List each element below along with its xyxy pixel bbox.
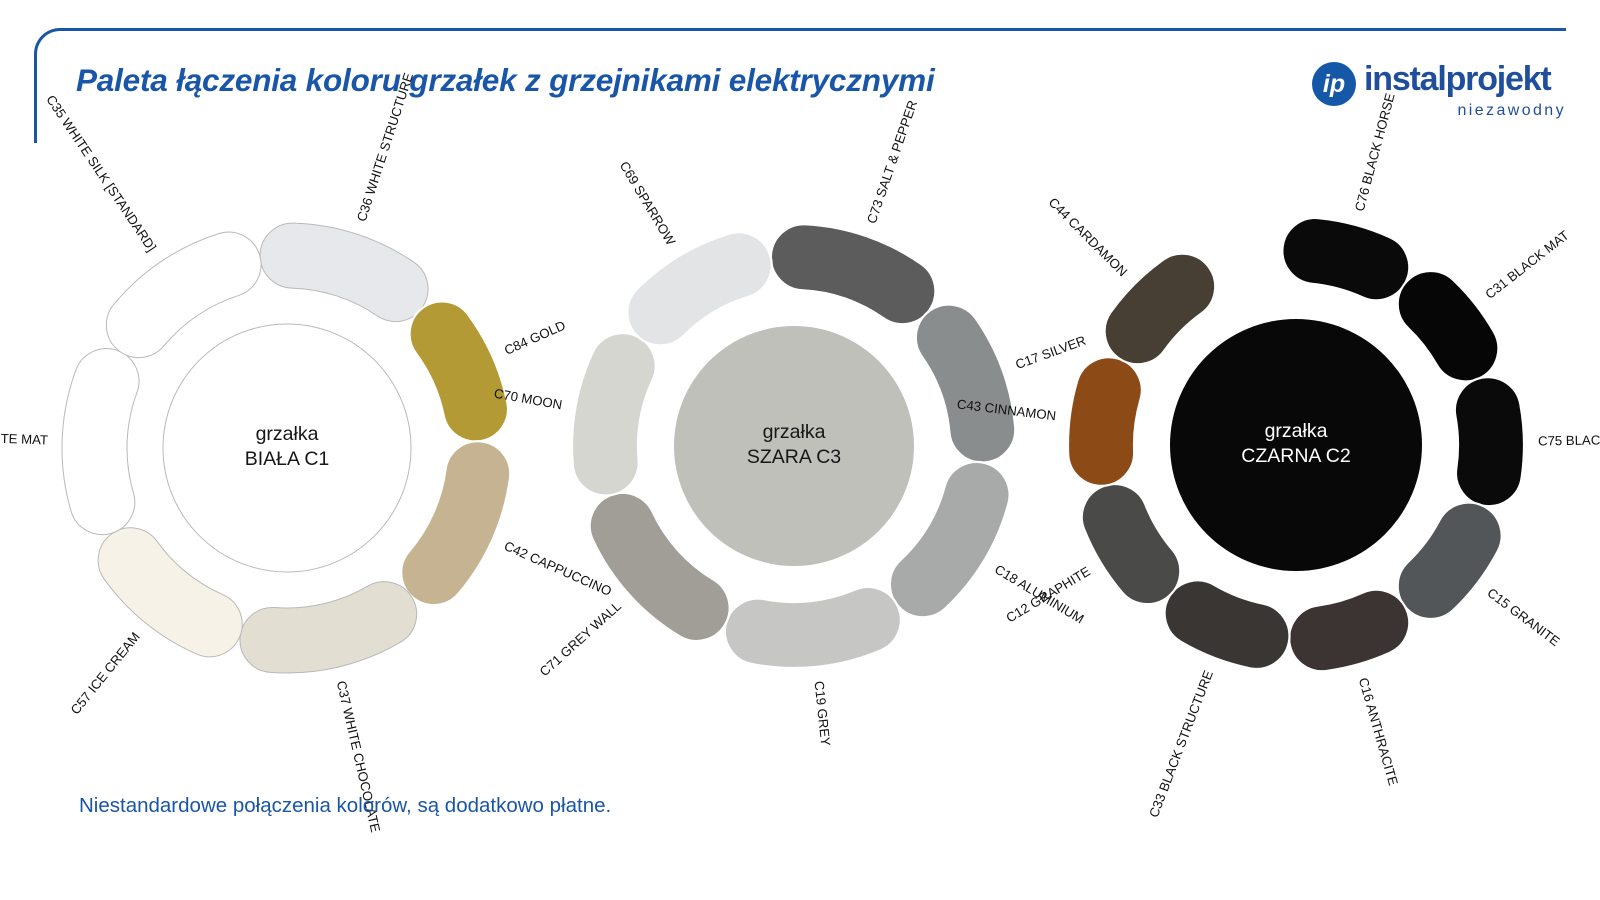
wheel-segment[interactable]	[1282, 218, 1409, 300]
infographic-canvas: Paleta łączenia koloru grzałek z grzejni…	[0, 0, 1600, 900]
wheel-segment[interactable]	[1398, 503, 1502, 619]
wheel-segment-label: C34 WHITE MAT	[0, 429, 48, 448]
wheel-segment[interactable]	[1289, 590, 1409, 672]
wheel-segment[interactable]	[1165, 580, 1290, 669]
wheel-hub-label-line1: grzałka	[928, 419, 1600, 444]
wheel-segment[interactable]	[627, 232, 771, 345]
wheel-segment-label: C75 BLACK SWAN	[1538, 431, 1600, 448]
wheel-segment[interactable]	[240, 582, 417, 673]
wheel-hub-label-line2: CZARNA C2	[928, 444, 1600, 469]
wheel-segment[interactable]	[572, 333, 656, 495]
footer-note: Niestandardowe połączenia kolorów, są do…	[79, 794, 611, 818]
wheel-segment[interactable]	[1082, 484, 1180, 604]
wheel-segment[interactable]	[1398, 271, 1499, 381]
wheel-hub-label: grzałkaCZARNA C2	[928, 419, 1600, 469]
wheel-black: grzałkaCZARNA C2C76 BLACK HORSEC31 BLACK…	[928, 77, 1600, 813]
wheel-segment[interactable]	[771, 224, 935, 324]
wheel-segment[interactable]	[725, 587, 901, 668]
wheel-segment[interactable]	[260, 223, 428, 321]
